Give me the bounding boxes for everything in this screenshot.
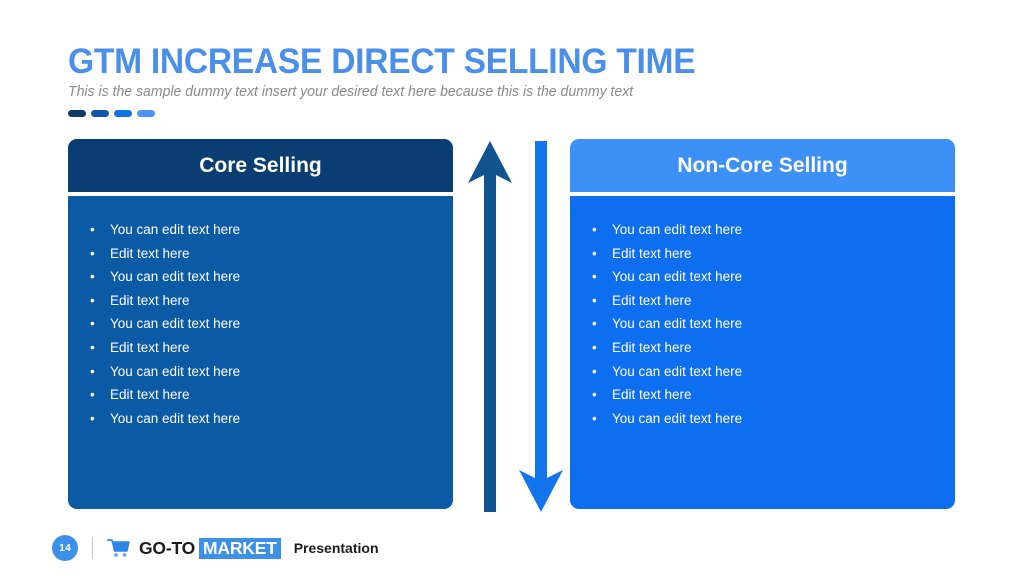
list-item[interactable]: •Edit text here (592, 242, 955, 266)
list-item-label: You can edit text here (110, 312, 240, 336)
brand-name-primary: GO-TO (139, 538, 195, 559)
up-arrow-icon (468, 141, 512, 512)
footer-label: Presentation (294, 540, 379, 556)
panel-body-core-selling: •You can edit text here•Edit text here•Y… (68, 196, 453, 509)
arrow-svg (465, 139, 565, 514)
panel-title-core-selling: Core Selling (199, 154, 322, 178)
list-item-label: You can edit text here (110, 218, 240, 242)
list-item[interactable]: •You can edit text here (90, 360, 453, 384)
bullet-list-core-selling: •You can edit text here•Edit text here•Y… (68, 218, 453, 430)
bullet-dot-icon: • (592, 383, 612, 407)
list-item[interactable]: •You can edit text here (90, 407, 453, 431)
list-item-label: Edit text here (612, 383, 692, 407)
bullet-list-non-core-selling: •You can edit text here•Edit text here•Y… (570, 218, 955, 430)
list-item-label: Edit text here (110, 242, 190, 266)
shopping-cart-icon (106, 538, 130, 558)
list-item[interactable]: •You can edit text here (592, 265, 955, 289)
list-item-label: Edit text here (612, 242, 692, 266)
list-item-label: Edit text here (110, 336, 190, 360)
list-item[interactable]: •You can edit text here (592, 218, 955, 242)
page-subtitle: This is the sample dummy text insert you… (68, 84, 633, 100)
accent-dash-3 (114, 110, 132, 117)
bullet-dot-icon: • (592, 407, 612, 431)
bullet-dot-icon: • (592, 265, 612, 289)
list-item-label: Edit text here (110, 383, 190, 407)
list-item-label: You can edit text here (110, 360, 240, 384)
list-item[interactable]: •You can edit text here (592, 312, 955, 336)
bullet-dot-icon: • (90, 383, 110, 407)
list-item[interactable]: •Edit text here (592, 336, 955, 360)
list-item[interactable]: •Edit text here (90, 383, 453, 407)
page-title: GTM INCREASE DIRECT SELLING TIME (68, 42, 695, 82)
list-item-label: Edit text here (612, 336, 692, 360)
footer: 14 GO-TO MARKET Presentation (52, 532, 379, 564)
list-item[interactable]: •You can edit text here (90, 265, 453, 289)
bullet-dot-icon: • (592, 360, 612, 384)
list-item[interactable]: •You can edit text here (90, 218, 453, 242)
list-item-label: You can edit text here (612, 265, 742, 289)
list-item[interactable]: •Edit text here (90, 242, 453, 266)
list-item-label: You can edit text here (110, 265, 240, 289)
bullet-dot-icon: • (592, 218, 612, 242)
panel-core-selling: Core Selling •You can edit text here•Edi… (68, 139, 453, 509)
list-item-label: Edit text here (110, 289, 190, 313)
bullet-dot-icon: • (90, 289, 110, 313)
bullet-dot-icon: • (90, 336, 110, 360)
bullet-dot-icon: • (90, 242, 110, 266)
list-item-label: You can edit text here (612, 312, 742, 336)
panel-non-core-selling: Non-Core Selling •You can edit text here… (570, 139, 955, 509)
list-item[interactable]: •Edit text here (592, 289, 955, 313)
bullet-dot-icon: • (592, 289, 612, 313)
bullet-dot-icon: • (90, 265, 110, 289)
bullet-dot-icon: • (592, 242, 612, 266)
arrow-group (465, 139, 565, 514)
list-item[interactable]: •Edit text here (90, 289, 453, 313)
panel-title-non-core-selling: Non-Core Selling (677, 154, 847, 178)
list-item-label: You can edit text here (612, 360, 742, 384)
panel-body-non-core-selling: •You can edit text here•Edit text here•Y… (570, 196, 955, 509)
panel-header-non-core-selling[interactable]: Non-Core Selling (570, 139, 955, 192)
accent-dash-4 (137, 110, 155, 117)
down-arrow-icon (519, 141, 563, 512)
list-item[interactable]: •You can edit text here (90, 312, 453, 336)
list-item[interactable]: •Edit text here (90, 336, 453, 360)
list-item[interactable]: •Edit text here (592, 383, 955, 407)
accent-dash-row (68, 110, 155, 117)
list-item-label: Edit text here (612, 289, 692, 313)
accent-dash-2 (91, 110, 109, 117)
bullet-dot-icon: • (90, 218, 110, 242)
footer-divider (92, 537, 93, 559)
bullet-dot-icon: • (592, 312, 612, 336)
bullet-dot-icon: • (90, 312, 110, 336)
bullet-dot-icon: • (592, 336, 612, 360)
brand-name-highlight: MARKET (199, 538, 281, 559)
accent-dash-1 (68, 110, 86, 117)
list-item[interactable]: •You can edit text here (592, 360, 955, 384)
bullet-dot-icon: • (90, 360, 110, 384)
list-item-label: You can edit text here (612, 218, 742, 242)
bullet-dot-icon: • (90, 407, 110, 431)
list-item-label: You can edit text here (612, 407, 742, 431)
list-item-label: You can edit text here (110, 407, 240, 431)
page-number-badge: 14 (52, 535, 78, 561)
panel-header-core-selling[interactable]: Core Selling (68, 139, 453, 192)
list-item[interactable]: •You can edit text here (592, 407, 955, 431)
